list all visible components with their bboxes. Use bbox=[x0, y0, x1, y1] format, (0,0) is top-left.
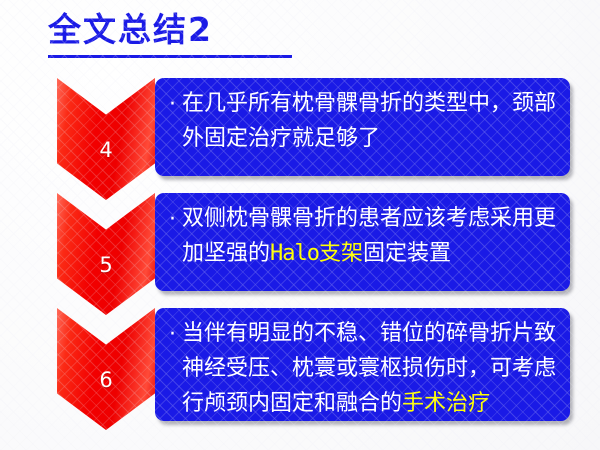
bullet-icon: · bbox=[169, 316, 176, 354]
summary-text-6: 当伴有明显的不稳、错位的碎骨折片致神经受压、枕寰或寰枢损伤时，可考虑行颅颈内固定… bbox=[182, 316, 558, 421]
summary-row: 6 · 当伴有明显的不稳、错位的碎骨折片致神经受压、枕寰或寰枢损伤时，可考虑行颅… bbox=[0, 308, 600, 445]
bullet-icon: · bbox=[169, 201, 176, 239]
body-text: 在几乎所有枕骨髁骨折的类型中，颈部外固定治疗就足够了 bbox=[182, 91, 556, 151]
title-underline-rule bbox=[48, 55, 292, 58]
title-block: 全文总结2 bbox=[48, 8, 568, 58]
highlighted-text: 手术治疗 bbox=[402, 391, 490, 416]
step-chevron-6: 6 bbox=[57, 308, 155, 430]
slide-canvas: 全文总结2 4 · 在几乎所有枕骨髁骨折的类型中，颈部外固定治疗就足够了 5 ·… bbox=[0, 0, 600, 450]
summary-card-5[interactable]: · 双侧枕骨髁骨折的患者应该考虑采用更加坚强的Halo支架固定装置 bbox=[155, 193, 570, 291]
page-title: 全文总结2 bbox=[48, 8, 568, 52]
summary-card-4[interactable]: · 在几乎所有枕骨髁骨折的类型中，颈部外固定治疗就足够了 bbox=[155, 78, 570, 176]
summary-row: 5 · 双侧枕骨髁骨折的患者应该考虑采用更加坚强的Halo支架固定装置 bbox=[0, 193, 600, 315]
body-text: 固定装置 bbox=[363, 241, 451, 266]
summary-card-6[interactable]: · 当伴有明显的不稳、错位的碎骨折片致神经受压、枕寰或寰枢损伤时，可考虑行颅颈内… bbox=[155, 308, 570, 421]
bullet-icon: · bbox=[169, 86, 176, 124]
step-number-6: 6 bbox=[57, 370, 155, 391]
summary-text-4: 在几乎所有枕骨髁骨折的类型中，颈部外固定治疗就足够了 bbox=[182, 86, 558, 156]
highlighted-text: 支架 bbox=[319, 241, 363, 266]
step-chevron-4: 4 bbox=[57, 78, 155, 200]
step-chevron-5: 5 bbox=[57, 193, 155, 315]
summary-row: 4 · 在几乎所有枕骨髁骨折的类型中，颈部外固定治疗就足够了 bbox=[0, 78, 600, 200]
body-text: 当伴有明显的不稳、错位的碎骨折片致神经受压、枕寰或寰枢损伤时，可考虑行颅颈内固定… bbox=[182, 321, 556, 416]
step-number-4: 4 bbox=[57, 140, 155, 161]
highlighted-text: Halo bbox=[270, 241, 319, 266]
summary-text-5: 双侧枕骨髁骨折的患者应该考虑采用更加坚强的Halo支架固定装置 bbox=[182, 201, 558, 271]
step-number-5: 5 bbox=[57, 255, 155, 276]
